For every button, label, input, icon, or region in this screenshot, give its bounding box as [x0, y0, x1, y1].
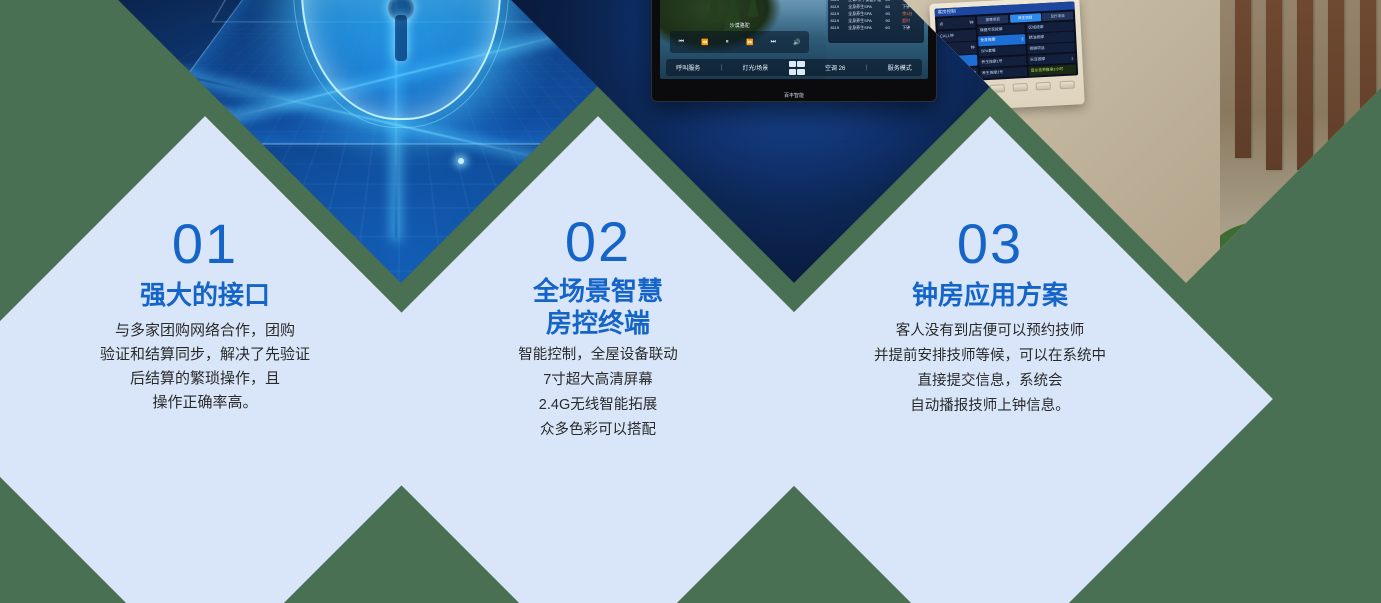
list-item[interactable]: SPA套餐 [978, 45, 1026, 57]
card-title: 全场景智慧 房控终端 [533, 275, 663, 339]
tab-wellness[interactable]: 养生项目 [1009, 13, 1040, 23]
cell: 全身养生SPA [848, 24, 882, 31]
panel-right-area: 按摩项目 养生项目 足疗项目 保健专家按摩 [977, 11, 1076, 78]
card-description: 客人没有到店便可以预约技师 并提前安排技师等候，可以在系统中 直接提交信息，系统… [874, 319, 1106, 419]
media-forward-icon[interactable]: ⏩ [746, 39, 753, 46]
item-label: 保健专家按摩 [979, 27, 1002, 33]
plant-leaf [1236, 232, 1296, 283]
item-badge: 2 [1021, 37, 1023, 41]
list-item[interactable]: 养生按摩1号 [979, 56, 1027, 68]
media-rewind-icon[interactable]: ⏪ [701, 39, 708, 46]
card-description: 智能控制，全屋设备联动 7寸超大高清屏幕 2.4G无线智能拓展 众多色彩可以搭配 [518, 343, 678, 443]
card-number: 02 [565, 213, 631, 271]
item-label: 养生按摩2号 [981, 70, 1002, 76]
home-grid-icon[interactable] [789, 61, 805, 75]
aircon-button[interactable]: 空调 26 [825, 63, 845, 72]
cell: 90 [885, 17, 899, 24]
media-play-pause-icon[interactable]: ⏸ [726, 39, 729, 46]
panel-key[interactable] [1059, 81, 1074, 90]
item-label: 全身按摩 [980, 38, 995, 44]
shield-icon [301, 0, 501, 120]
chip-item[interactable]: 点 钟 [937, 17, 976, 30]
chip-value: 钟 [970, 45, 974, 51]
terminal-bottom-bar[interactable]: 呼叫服务 | 灯光/场景 空调 26 | 服务模式 [666, 59, 922, 76]
plant-leaf [1314, 251, 1376, 283]
table-row: 8119 全身养生SPA 90 超时 [831, 17, 921, 24]
divider: | [721, 65, 723, 71]
item-label: 精油按摩 [1028, 35, 1043, 41]
card-title: 强大的接口 [140, 279, 270, 311]
card-number: 01 [172, 213, 238, 275]
tablet-footer: 百丰智能 [652, 92, 936, 99]
cell: 8119 [831, 24, 846, 31]
card-description: 与多家团购网络合作，团购 验证和结算同步，解决了先验证 后结算的繁琐操作，且 操… [100, 319, 310, 415]
cell: 全身养生SPA [848, 10, 882, 17]
list-item[interactable]: 养生按摩2号 [979, 67, 1027, 79]
service-mode-button[interactable]: 服务模式 [888, 63, 912, 72]
cell: 8119 [831, 17, 846, 24]
item-label: 修脚项目 [1029, 46, 1044, 52]
list-item[interactable]: 区域按摩 [1026, 21, 1074, 33]
cell: 全身养生SPA [848, 17, 882, 24]
promo-banner: CHUIBO 智能房控 22:35 SPA6房 26°C [0, 0, 1381, 603]
item-label: 采耳按摩 [1030, 57, 1045, 63]
item-label: 音乐技师推拿2小时 [1030, 67, 1063, 74]
tab-massage[interactable]: 按摩项目 [977, 15, 1008, 25]
media-volume-icon[interactable]: 🔊 [793, 39, 800, 46]
call-service-button[interactable]: 呼叫服务 [676, 63, 700, 72]
card-title: 钟房应用方案 [912, 279, 1068, 311]
item-badge: 1 [1071, 56, 1073, 60]
chip-item[interactable]: CALL钟 [937, 29, 976, 42]
feature-card-03-content: 03 钟房应用方案 客人没有到店便可以预约技师 并提前安排技师等候，可以在系统中… [790, 199, 1190, 599]
chip-label: 点 [939, 21, 943, 27]
tablet-screen[interactable]: 22:35 SPA6房 26°C 11/24 钟人 项目 时长 [660, 0, 928, 79]
wood-slat [1297, 0, 1313, 170]
list-item[interactable]: 精油按摩 [1026, 32, 1074, 44]
table-row: 8119 全身养生SPA 60 下钟 [831, 24, 921, 31]
tablet-device: CHUIBO 智能房控 22:35 SPA6房 26°C [651, 0, 937, 102]
cell: 全身养生SPA [848, 3, 882, 10]
list-item-warning[interactable]: 音乐技师推拿2小时 [1028, 64, 1076, 76]
chip-label: CALL钟 [939, 33, 953, 40]
cell: 8119 [831, 10, 846, 17]
keyhole-icon [388, 0, 414, 21]
list-item[interactable]: 修脚项目 [1027, 43, 1075, 55]
panel-key[interactable] [989, 84, 1004, 93]
spark-dot [220, 113, 225, 118]
panel-key[interactable] [1036, 82, 1051, 91]
tab-footcare[interactable]: 足疗项目 [1041, 11, 1072, 21]
item-label: 养生按摩1号 [981, 59, 1002, 65]
media-track-title: 沙漠骆驼 [670, 22, 809, 29]
tree-shape [707, 0, 721, 23]
card-number: 03 [957, 213, 1023, 275]
divider: | [866, 65, 868, 71]
cell: 90 [885, 10, 899, 17]
panel-service-rows: 保健专家按摩 区域按摩 全身按摩 [977, 21, 1076, 78]
cell-status: 超时 [902, 17, 921, 24]
table-row: 8119 全身养生SPA 90 余1分 [831, 10, 921, 17]
chip-value: 钟 [969, 19, 973, 25]
tree-shape [748, 0, 759, 17]
cell: 60 [885, 24, 899, 31]
list-item-selected[interactable]: 全身按摩 2 [978, 34, 1026, 46]
wood-slat [1266, 0, 1282, 170]
list-item[interactable]: 保健专家按摩 [977, 24, 1025, 36]
media-next-icon[interactable]: ⏭ [771, 39, 776, 46]
media-player-bar[interactable]: 沙漠骆驼 ⏮ ⏪ ⏸ ⏩ ⏭ 🔊 [670, 31, 809, 53]
footer-brand-label: 百丰智能 [784, 92, 804, 99]
item-label: 区域按摩 [1028, 25, 1043, 31]
media-prev-icon[interactable]: ⏮ [679, 39, 684, 46]
plant-leaf [1269, 217, 1316, 274]
wood-slat [1328, 0, 1344, 181]
shield-body [301, 0, 501, 120]
panel-key[interactable] [1012, 83, 1027, 92]
cell: 60 [885, 3, 899, 10]
lighting-scene-button[interactable]: 灯光/场景 [743, 63, 769, 72]
cell: 8119 [831, 3, 846, 10]
item-label: SPA套餐 [980, 49, 995, 55]
list-item[interactable]: 采耳按摩 1 [1027, 53, 1075, 65]
wood-slat [1360, 0, 1376, 181]
cell-status: 下钟 [902, 24, 921, 31]
wood-slat [1235, 0, 1251, 158]
room-right-area [1209, 0, 1381, 283]
